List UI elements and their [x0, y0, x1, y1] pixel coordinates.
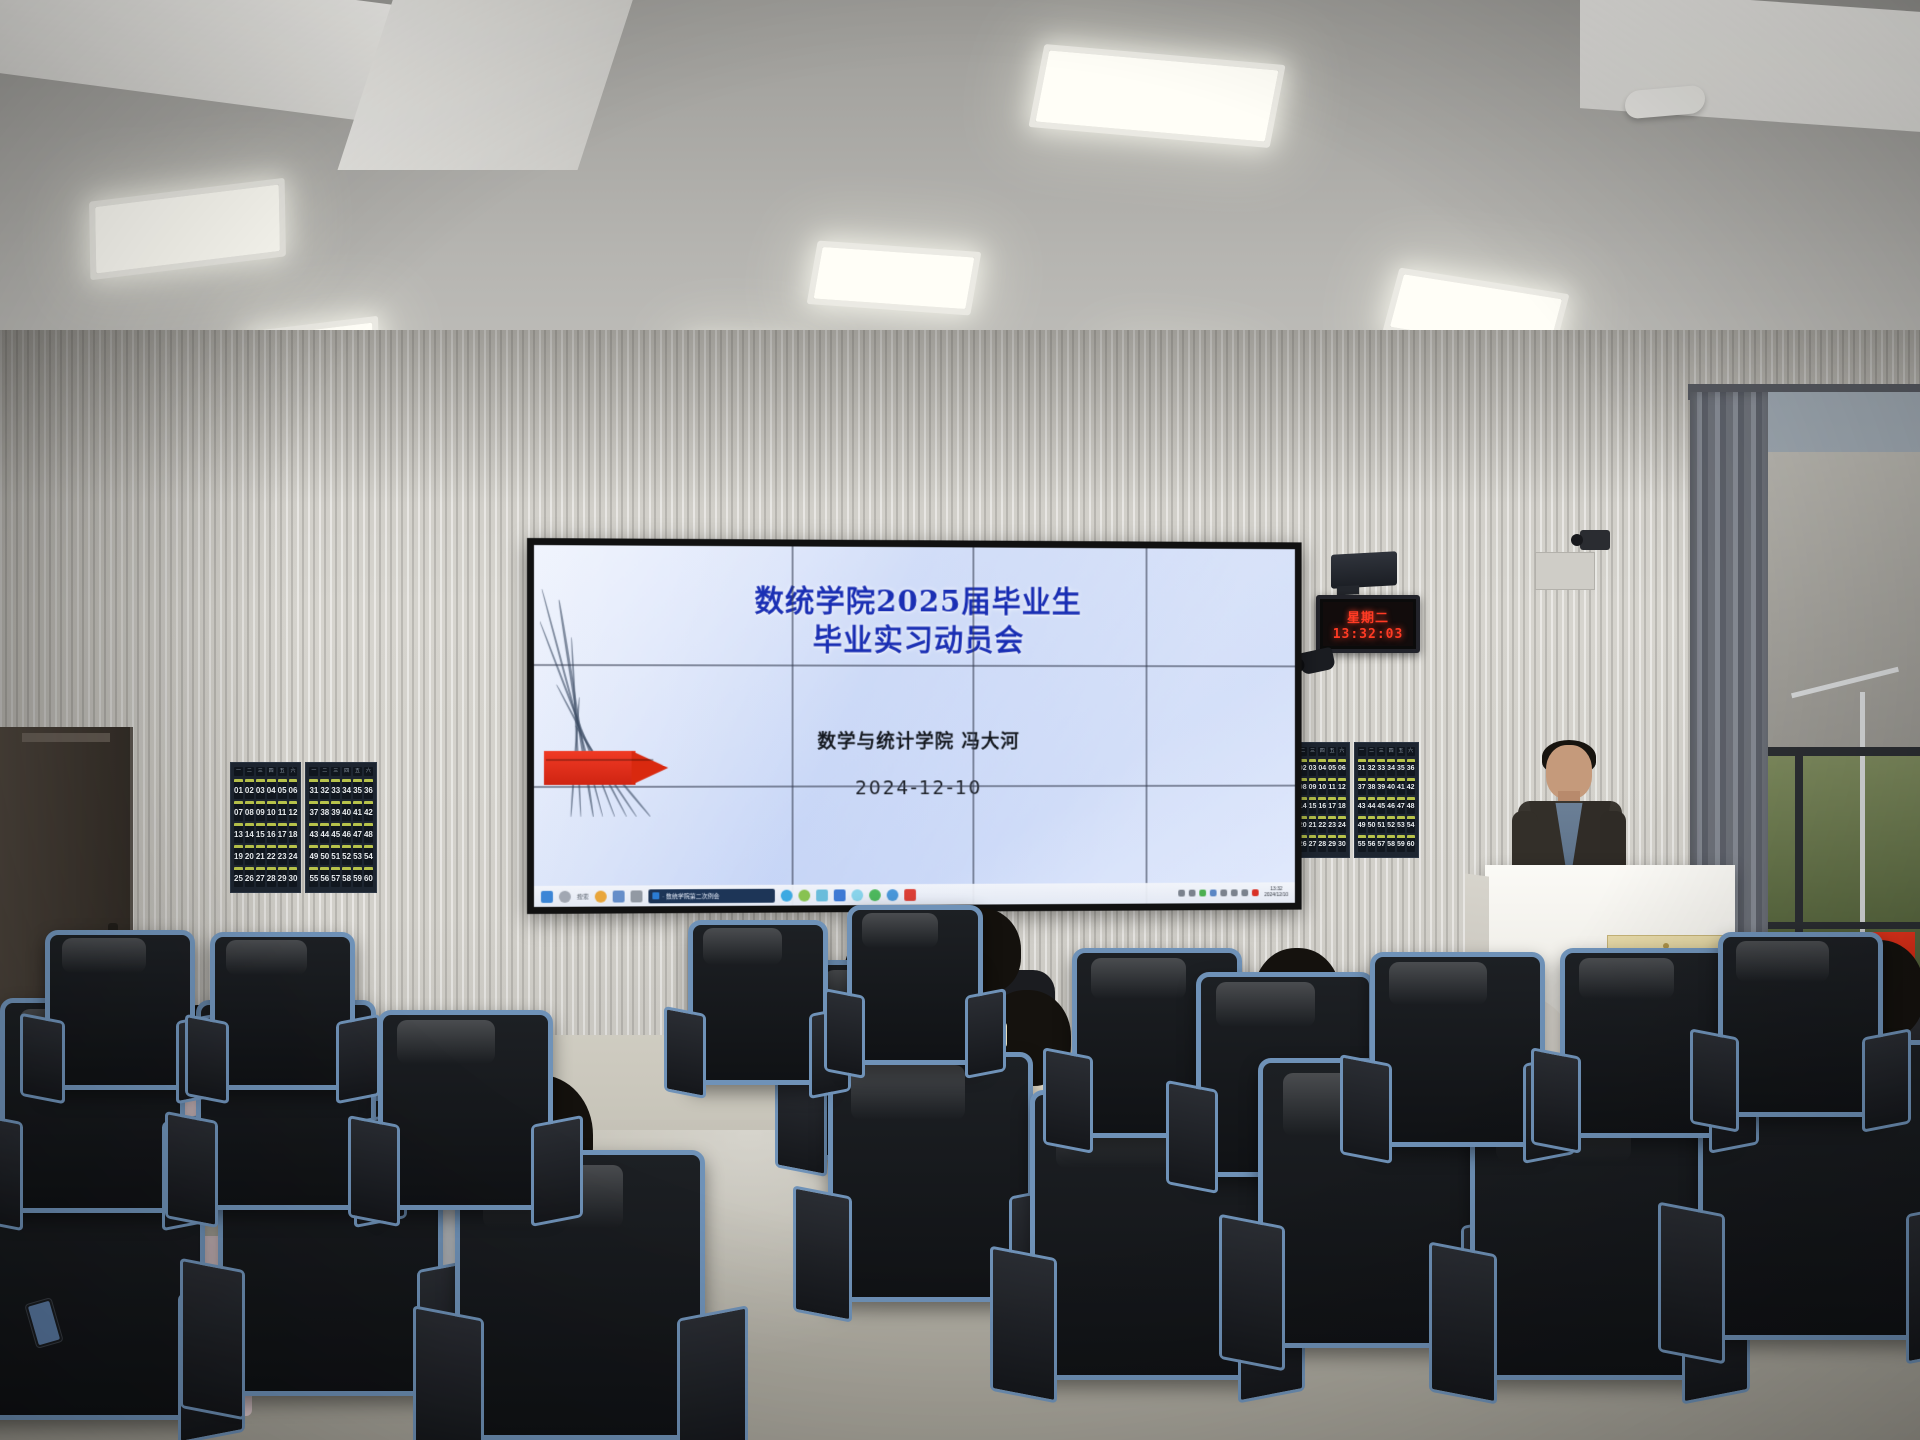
phone-pocket[interactable]: 29 [1328, 835, 1336, 852]
slide-text-block: 数统学院2025届毕业生 毕业实习动员会 数学与统计学院 冯大河 2024-12… [534, 581, 1295, 800]
seat-arm-left [1219, 1214, 1285, 1372]
seat-arm-right [1906, 1201, 1920, 1364]
wall-monitor [1331, 551, 1397, 588]
phone-pocket[interactable]: 46 [342, 823, 351, 843]
phone-pocket[interactable]: 53 [1397, 816, 1405, 833]
pocket-row: 555657585960 [309, 867, 372, 887]
phone-pocket[interactable]: 39 [331, 801, 340, 821]
phone-pocket[interactable]: 52 [1387, 816, 1395, 833]
phone-pocket[interactable]: 48 [364, 823, 373, 843]
phone-pocket[interactable]: 27 [256, 867, 265, 887]
pocket-header-cell: 四 [1318, 747, 1326, 756]
pocket-header-cell: 一 [1358, 747, 1366, 756]
phone-pocket[interactable]: 15 [1309, 797, 1317, 814]
phone-pocket[interactable]: 57 [331, 867, 340, 887]
seat-highlight [397, 1020, 495, 1064]
phone-pocket[interactable]: 33 [331, 779, 340, 799]
door-vent [22, 733, 110, 742]
tray-volume-icon[interactable] [1241, 889, 1248, 896]
pocket-header-cell: 六 [1338, 747, 1346, 756]
pocket-header-cell: 二 [1368, 747, 1376, 756]
pocket-header: 一二三四五六 [1358, 747, 1415, 756]
phone-pocket[interactable]: 29 [278, 867, 287, 887]
phone-pocket[interactable]: 37 [309, 801, 318, 821]
seat-arm-left [20, 1012, 65, 1104]
seat-highlight [1579, 958, 1674, 1000]
pocket-row: 373839404142 [309, 801, 372, 821]
phone-pocket[interactable]: 11 [278, 801, 287, 821]
ceiling-light-1 [95, 185, 280, 274]
phone-pocket[interactable]: 18 [1338, 797, 1346, 814]
phone-pocket[interactable]: 03 [1309, 759, 1317, 776]
phone-pocket[interactable]: 13 [234, 823, 243, 843]
phone-pocket[interactable]: 15 [256, 823, 265, 843]
screen-seam-v3 [1146, 548, 1148, 903]
seat-highlight [1216, 982, 1316, 1027]
pocket-header-cell: 三 [1377, 747, 1385, 756]
seat-arm-right [1862, 1029, 1911, 1133]
phone-pocket[interactable]: 47 [1397, 797, 1405, 814]
phone-pocket[interactable]: 35 [353, 779, 362, 799]
phone-pocket[interactable]: 59 [353, 867, 362, 887]
pocket-header-cell: 六 [289, 767, 298, 776]
phone-pocket[interactable]: 22 [267, 845, 276, 865]
seat-arm-left [0, 1111, 23, 1231]
pocket-row: 313233343536 [1358, 759, 1415, 776]
pocket-header-cell: 四 [1387, 747, 1395, 756]
seat-highlight [1091, 958, 1186, 1000]
phone-pocket[interactable]: 32 [1368, 759, 1376, 776]
seat-arm-left [1340, 1054, 1392, 1164]
seat-highlight [1736, 941, 1828, 982]
tray-input-icon[interactable] [1252, 889, 1259, 896]
slide-title-line2: 毕业实习动员会 [534, 620, 1295, 661]
lecture-hall-scene: 一二三四五六0102030405060708091011121314151617… [0, 0, 1920, 1440]
seat-arm-left [990, 1246, 1057, 1404]
pocket-row: 070809101112 [234, 801, 297, 821]
phone-pocket[interactable]: 31 [1358, 759, 1366, 776]
phone-pocket[interactable]: 50 [320, 845, 329, 865]
pocket-column: 一二三四五六0102030405060708091011121314151617… [230, 762, 301, 893]
phone-pocket[interactable]: 54 [364, 845, 373, 865]
phone-pocket[interactable]: 46 [1387, 797, 1395, 814]
phone-pocket[interactable]: 40 [1387, 778, 1395, 795]
pocket-row: 131415161718 [234, 823, 297, 843]
phone-pocket[interactable]: 32 [320, 779, 329, 799]
weixin-icon[interactable] [869, 889, 881, 901]
pocket-column: 一二三四五六3132333435363738394041424344454647… [1354, 742, 1419, 858]
search-label: 搜索 [577, 892, 589, 901]
phone-pocket[interactable]: 21 [1309, 816, 1317, 833]
pocket-row: 373839404142 [1358, 778, 1415, 795]
phone-pocket[interactable]: 23 [278, 845, 287, 865]
tray-net-icon[interactable] [1220, 889, 1227, 896]
seat-arm-right [965, 988, 1006, 1079]
wps-icon[interactable] [595, 890, 607, 902]
active-window-icon [652, 892, 659, 899]
phone-pocket[interactable]: 55 [309, 867, 318, 887]
phone-pocket[interactable]: 11 [1328, 778, 1336, 795]
phone-pocket[interactable]: 40 [342, 801, 351, 821]
seat-arm-left [793, 1185, 852, 1323]
phone-pocket[interactable]: 09 [256, 801, 265, 821]
pocket-row: 495051525354 [309, 845, 372, 865]
pocket-header-cell: 二 [320, 767, 329, 776]
phone-pocket[interactable]: 17 [278, 823, 287, 843]
pocket-header-cell: 五 [1397, 747, 1405, 756]
phone-pocket[interactable]: 42 [1407, 778, 1415, 795]
pocket-header: 一二三四五六 [234, 767, 297, 776]
phone-pocket[interactable]: 48 [1407, 797, 1415, 814]
phone-pocket[interactable]: 24 [289, 845, 298, 865]
pocket-row: 010203040506 [234, 779, 297, 799]
phone-pocket[interactable]: 42 [364, 801, 373, 821]
seat-highlight [1389, 962, 1487, 1005]
phone-pocket[interactable]: 54 [1407, 816, 1415, 833]
phone-pocket[interactable]: 10 [267, 801, 276, 821]
phone-pocket[interactable]: 33 [1377, 759, 1385, 776]
pocket-row: 192021222324 [234, 845, 297, 865]
phone-pocket[interactable]: 21 [256, 845, 265, 865]
seat-arm-left [824, 988, 865, 1079]
phone-pocket[interactable]: 36 [1407, 759, 1415, 776]
phone-pocket[interactable]: 28 [267, 867, 276, 887]
slide-byline: 数学与统计学院 冯大河 [534, 727, 1295, 754]
phone-pocket[interactable]: 45 [1377, 797, 1385, 814]
mail-icon[interactable] [851, 889, 863, 901]
phone-pocket[interactable]: 01 [234, 779, 243, 799]
tray-green-icon[interactable] [1199, 890, 1206, 897]
phone-pocket[interactable]: 58 [1387, 835, 1395, 852]
seat-highlight [62, 938, 146, 973]
wps-red-icon[interactable] [904, 889, 916, 901]
pocket-header: 一二三四五六 [309, 767, 372, 776]
phone-pocket[interactable]: 53 [353, 845, 362, 865]
seat-r7-c3[interactable] [1718, 932, 1883, 1117]
phone-pocket[interactable]: 05 [1328, 759, 1336, 776]
seat-arm-left [1658, 1201, 1725, 1364]
pocket-header-cell: 二 [245, 767, 254, 776]
seat-r3-c1[interactable] [45, 930, 195, 1090]
phone-pocket[interactable]: 22 [1318, 816, 1326, 833]
edge-icon[interactable] [781, 889, 793, 901]
seat-highlight [226, 940, 307, 975]
pocket-header-cell: 五 [1328, 747, 1336, 756]
phone-pocket[interactable]: 08 [245, 801, 254, 821]
phone-pocket[interactable]: 06 [1338, 759, 1346, 776]
seat-arm-left [165, 1111, 218, 1228]
seat-arm-left [1429, 1241, 1497, 1404]
ceiling-light-3 [1036, 50, 1279, 141]
phone-pocket[interactable]: 06 [289, 779, 298, 799]
pocket-header-cell: 三 [256, 767, 265, 776]
phone-pocket[interactable]: 39 [1377, 778, 1385, 795]
phone-pocket[interactable]: 43 [309, 823, 318, 843]
phone-pocket[interactable]: 23 [1328, 816, 1336, 833]
phone-pocket[interactable]: 34 [1387, 759, 1395, 776]
phone-pocket[interactable]: 26 [245, 867, 254, 887]
pocket-row: 252627282930 [234, 867, 297, 887]
phone-pocket[interactable]: 07 [234, 801, 243, 821]
pocket-header-cell: 四 [267, 767, 276, 776]
phone-pocket[interactable]: 31 [309, 779, 318, 799]
pocket-row: 555657585960 [1358, 835, 1415, 852]
store-icon[interactable] [834, 889, 846, 901]
led-time: 13:32:03 [1333, 627, 1404, 642]
phone-pocket-board-left[interactable]: 一二三四五六0102030405060708091011121314151617… [230, 762, 377, 893]
chrome-icon[interactable] [798, 889, 810, 901]
phone-pocket[interactable]: 59 [1397, 835, 1405, 852]
pocket-row: 434445464748 [309, 823, 372, 843]
seat-arm-left [185, 1013, 229, 1103]
seat-arm-left [1690, 1029, 1739, 1133]
seat-r5-c2[interactable] [847, 905, 983, 1065]
seat-arm-left [664, 1006, 706, 1099]
pocket-header-cell: 六 [364, 767, 373, 776]
seat-highlight [862, 913, 938, 948]
phone-pocket[interactable]: 30 [1338, 835, 1346, 852]
pocket-row: 434445464748 [1358, 797, 1415, 814]
phone-pocket[interactable]: 20 [245, 845, 254, 865]
pocket-header-cell: 五 [353, 767, 362, 776]
phone-pocket[interactable]: 09 [1309, 778, 1317, 795]
phone-pocket[interactable]: 04 [1318, 759, 1326, 776]
pocket-column: 一二三四五六3132333435363738394041424344454647… [305, 762, 376, 893]
phone-pocket[interactable]: 12 [1338, 778, 1346, 795]
phone-pocket[interactable]: 41 [353, 801, 362, 821]
phone-pocket[interactable]: 24 [1338, 816, 1346, 833]
wall-camera-icon [1580, 530, 1610, 550]
phone-pocket[interactable]: 38 [1368, 778, 1376, 795]
phone-pocket[interactable]: 49 [309, 845, 318, 865]
tray-up-icon[interactable] [1178, 890, 1185, 897]
phone-pocket[interactable]: 04 [267, 779, 276, 799]
phone-pocket[interactable]: 16 [1318, 797, 1326, 814]
taskbar-clock[interactable]: 13:32 2024/12/10 [1264, 887, 1288, 898]
pocket-header-cell: 三 [1309, 747, 1317, 756]
pocket-header-cell: 六 [1407, 747, 1415, 756]
pocket-row: 313233343536 [309, 779, 372, 799]
phone-pocket[interactable]: 37 [1358, 778, 1366, 795]
phone-pocket[interactable]: 44 [320, 823, 329, 843]
phone-pocket[interactable]: 43 [1358, 797, 1366, 814]
phone-pocket[interactable]: 05 [278, 779, 287, 799]
phone-pocket[interactable]: 55 [1358, 835, 1366, 852]
slide-date: 2024-12-10 [534, 777, 1295, 800]
seat-arm-right [677, 1305, 748, 1440]
phone-pocket[interactable]: 16 [267, 823, 276, 843]
seat-arm-left [1043, 1047, 1093, 1154]
phone-pocket[interactable]: 18 [289, 823, 298, 843]
search-icon[interactable] [559, 890, 571, 902]
system-tray[interactable] [1178, 889, 1258, 896]
phone-pocket[interactable]: 58 [342, 867, 351, 887]
ceiling-light-4 [814, 247, 975, 309]
seat-arm-left [1531, 1047, 1581, 1154]
phone-pocket[interactable]: 52 [342, 845, 351, 865]
ceiling-beam-center [338, 0, 643, 170]
phone-pocket[interactable]: 47 [353, 823, 362, 843]
video-wall-frame: 数统学院2025届毕业生 毕业实习动员会 数学与统计学院 冯大河 2024-12… [527, 538, 1302, 914]
pocket-header-cell: 一 [309, 767, 318, 776]
led-weekday: 星期二 [1347, 607, 1389, 626]
phone-pocket[interactable]: 38 [320, 801, 329, 821]
phone-pocket[interactable]: 51 [1377, 816, 1385, 833]
seat-highlight [703, 928, 781, 964]
start-icon[interactable] [541, 890, 553, 902]
seat-r3-c2[interactable] [210, 932, 355, 1090]
phone-pocket[interactable]: 50 [1368, 816, 1376, 833]
seat-arm-right [531, 1115, 583, 1227]
seat-arm-left [348, 1115, 400, 1227]
seat-arm-left [180, 1258, 245, 1421]
taskbar-active-window[interactable]: · 数统学院第二次例会 [648, 888, 774, 903]
phone-pocket[interactable]: 35 [1397, 759, 1405, 776]
taskview-icon[interactable] [631, 890, 643, 902]
phone-pocket[interactable]: 03 [256, 779, 265, 799]
phone-pocket[interactable]: 51 [331, 845, 340, 865]
phone-pocket[interactable]: 10 [1318, 778, 1326, 795]
pocket-header-cell: 五 [278, 767, 287, 776]
phone-pocket[interactable]: 25 [234, 867, 243, 887]
pocket-row: 495051525354 [1358, 816, 1415, 833]
phone-pocket[interactable]: 57 [1377, 835, 1385, 852]
screen-seam-v2 [972, 547, 974, 904]
folder-icon[interactable] [816, 889, 828, 901]
phone-pocket[interactable]: 36 [364, 779, 373, 799]
screen-seam-v1 [792, 546, 794, 905]
windows-taskbar[interactable]: 搜索 · 数统学院第二次例会 13:32 [534, 882, 1295, 907]
seat-arm-left [413, 1305, 484, 1440]
seat-arm-left [1166, 1080, 1218, 1195]
phone-pocket-board-right[interactable]: 一二三四五六0102030405060708091011121314151617… [1285, 742, 1419, 858]
seat-r5-c1[interactable] [688, 920, 828, 1085]
phone-pocket[interactable]: 02 [245, 779, 254, 799]
seat-highlight [851, 1065, 966, 1120]
tray-shield-icon[interactable] [1210, 890, 1217, 897]
phone-pocket[interactable]: 19 [234, 845, 243, 865]
pocket-header-cell: 三 [331, 767, 340, 776]
tray-battery-icon[interactable] [1231, 889, 1238, 896]
pocket-header-cell: 四 [342, 767, 351, 776]
phone-pocket[interactable]: 56 [320, 867, 329, 887]
phone-pocket[interactable]: 60 [364, 867, 373, 887]
phone-pocket[interactable]: 34 [342, 779, 351, 799]
phone-pocket[interactable]: 45 [331, 823, 340, 843]
taskbar-clock-date: 2024/12/10 [1264, 893, 1288, 899]
seat-arm-right [336, 1013, 380, 1103]
phone-pocket[interactable]: 17 [1328, 797, 1336, 814]
wall-speaker-box [1535, 552, 1595, 590]
phone-pocket[interactable]: 28 [1318, 835, 1326, 852]
active-window-label: · 数统学院第二次例会 [662, 891, 719, 900]
led-clock-display: 星期二 13:32:03 [1316, 595, 1420, 653]
computer-icon[interactable] [613, 890, 625, 902]
tray-cloud-icon[interactable] [1189, 890, 1196, 897]
phone-pocket[interactable]: 41 [1397, 778, 1405, 795]
phone-pocket[interactable]: 27 [1309, 835, 1317, 852]
phone-pocket[interactable]: 14 [245, 823, 254, 843]
phone-pocket[interactable]: 49 [1358, 816, 1366, 833]
qq-icon[interactable] [887, 889, 899, 901]
phone-pocket[interactable]: 30 [289, 867, 298, 887]
phone-pocket[interactable]: 44 [1368, 797, 1376, 814]
phone-pocket[interactable]: 60 [1407, 835, 1415, 852]
presentation-slide[interactable]: 数统学院2025届毕业生 毕业实习动员会 数学与统计学院 冯大河 2024-12… [534, 545, 1295, 907]
phone-pocket[interactable]: 56 [1368, 835, 1376, 852]
slide-title-line1: 数统学院2025届毕业生 [534, 581, 1295, 622]
phone-pocket[interactable]: 12 [289, 801, 298, 821]
pocket-header-cell: 一 [234, 767, 243, 776]
seat-r2-c3[interactable] [378, 1010, 553, 1210]
seat-r7-c1[interactable] [1370, 952, 1545, 1147]
